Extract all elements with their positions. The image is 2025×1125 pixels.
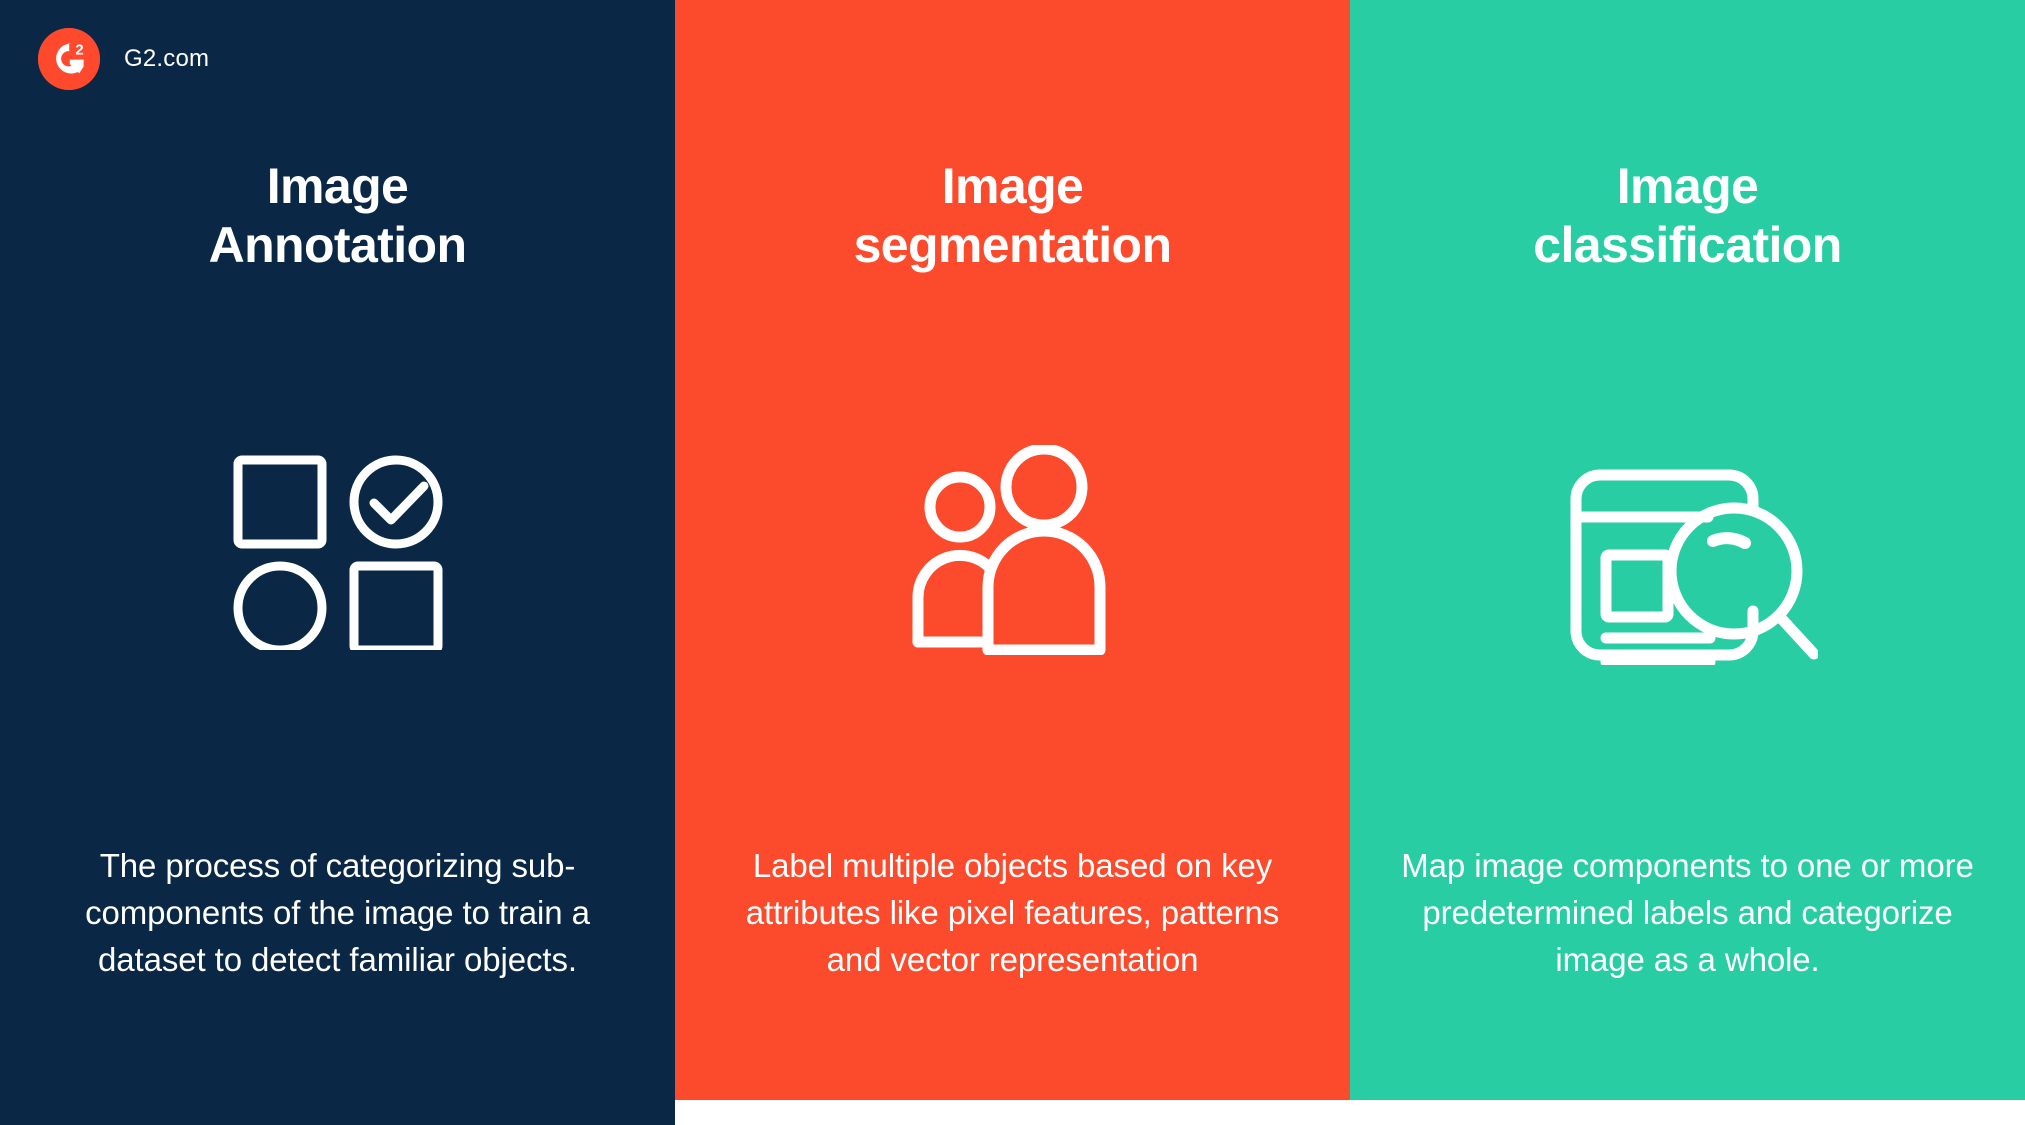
column-image-classification: Image classification	[1350, 0, 2025, 1100]
shapes-grid-icon	[0, 420, 675, 680]
column-body-segmentation: Label multiple objects based on key attr…	[675, 843, 1350, 984]
brand-header: 2 G2.com	[38, 28, 209, 90]
infographic-root: 2 G2.com Image Annotation	[0, 0, 2025, 1125]
document-search-icon	[1350, 420, 2025, 680]
g2-logo-icon: 2	[38, 28, 100, 90]
column-body-annotation: The process of categorizing sub-componen…	[0, 843, 675, 984]
column-title-segmentation: Image segmentation	[675, 157, 1350, 275]
svg-text:2: 2	[75, 42, 83, 59]
column-title-annotation: Image Annotation	[0, 157, 675, 275]
column-image-annotation: 2 G2.com Image Annotation	[0, 0, 675, 1125]
column-body-classification: Map image components to one or more pred…	[1350, 843, 2025, 984]
brand-name: G2.com	[124, 47, 209, 71]
column-title-classification: Image classification	[1350, 157, 2025, 275]
two-people-icon	[675, 420, 1350, 680]
column-image-segmentation: Image segmentation Label multiple object…	[675, 0, 1350, 1100]
